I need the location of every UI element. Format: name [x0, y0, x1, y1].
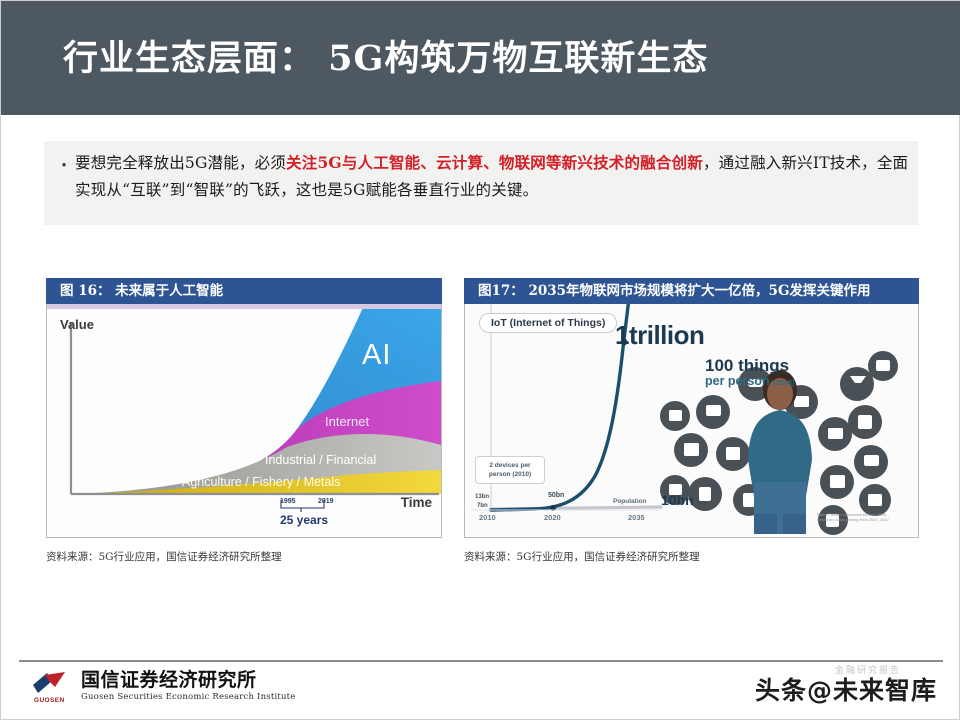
point-label-10bn: 10bn	[661, 492, 694, 508]
note-2-devices-per-person: 2 devices per person (2010)	[475, 456, 545, 484]
figure-17-caption: 图17： 2035年物联网市场规模将扩大一亿倍，5G发挥关键作用	[464, 278, 919, 304]
annotation-25-years: 25 years	[280, 513, 328, 527]
x-tick-2020: 2020	[544, 513, 561, 522]
bullet-text-part1: 要想完全释放出5G潜能，必须	[75, 154, 286, 172]
point-label-50bn: 50bn	[548, 492, 564, 499]
guosen-logo-mark: GUOSEN	[31, 669, 77, 703]
figure-16-source: 资料来源：5G行业应用，国信证券经济研究所整理	[46, 549, 442, 564]
value-time-area-chart: Value Time AI Internet Industrial / Fina…	[47, 309, 441, 537]
series-label-ai: AI	[362, 339, 391, 372]
watermark: 头条@未来智库	[755, 671, 937, 707]
figure-16-caption: 图 16： 未来属于人工智能	[46, 278, 442, 304]
bullet-marker: •	[53, 149, 75, 204]
figure-17-source: 资料来源：5G行业应用，国信证券经济研究所整理	[464, 549, 919, 564]
iot-badge: IoT (Internet of Things)	[479, 313, 617, 333]
figure-17: 图17： 2035年物联网市场规模将扩大一亿倍，5G发挥关键作用	[464, 278, 919, 564]
company-name-en: Guosen Securities Economic Research Inst…	[81, 691, 296, 703]
page-title: 行业生态层面： 5G构筑万物互联新生态	[63, 37, 708, 81]
slide: 行业生态层面： 5G构筑万物互联新生态 • 要想完全释放出5G潜能，必须关注5G…	[0, 0, 960, 720]
series-label-industrial-financial: Industrial / Financial	[265, 453, 376, 467]
guosen-wordmark: GUOSEN	[34, 697, 65, 704]
callout-100-things: 100 things	[705, 356, 789, 376]
point-label-13bn: 13bn	[475, 494, 489, 500]
iot-growth-chart: IoT (Internet of Things) 1trillion 100 t…	[465, 304, 918, 536]
point-label-7bn: 7bn	[477, 503, 488, 509]
company-name-block: 国信证券经济研究所 Guosen Securities Economic Res…	[81, 669, 296, 703]
annotation-year-1995: 1995	[280, 498, 296, 505]
bullet-text: 要想完全释放出5G潜能，必须关注5G与人工智能、云计算、物联网等新兴技术的融合创…	[75, 149, 913, 204]
bullet-item: • 要想完全释放出5G潜能，必须关注5G与人工智能、云计算、物联网等新兴技术的融…	[53, 149, 913, 204]
footer-divider	[19, 660, 943, 662]
figure-16-frame: Value Time AI Internet Industrial / Fina…	[46, 304, 442, 538]
y-axis-label: Value	[60, 317, 94, 332]
company-name-cn: 国信证券经济研究所	[81, 669, 296, 691]
x-tick-2035: 2035	[628, 513, 645, 522]
bullet-text-highlight: 关注5G与人工智能、云计算、物联网等新兴技术的融合创新	[286, 153, 703, 172]
figure-17-frame: IoT (Internet of Things) 1trillion 100 t…	[464, 304, 919, 538]
callout-per-person-year: (2035)	[773, 378, 795, 387]
summary-textbox: • 要想完全释放出5G潜能，必须关注5G与人工智能、云计算、物联网等新兴技术的融…	[44, 141, 918, 225]
guosen-chevron-icon	[31, 669, 77, 697]
callout-one-trillion: 1trillion	[615, 320, 704, 351]
slide-header: 行业生态层面： 5G构筑万物互联新生态	[1, 1, 960, 115]
person-photo	[737, 364, 823, 534]
person-silhouette	[737, 364, 823, 534]
annotation-year-2019: 2019	[318, 498, 334, 505]
callout-per-person-text: per person	[705, 374, 770, 388]
company-logo: GUOSEN 国信证券经济研究所 Guosen Securities Econo…	[31, 669, 296, 703]
chart-credit-note: Note: 1 trillion connected devices 2035;…	[817, 512, 897, 522]
callout-per-person: per person (2035)	[705, 374, 795, 388]
series-label-agriculture: Agriculture / Fishery / Metals	[182, 475, 340, 489]
series-label-internet: Internet	[325, 414, 369, 429]
point-label-population: Population	[613, 498, 647, 505]
x-tick-2010: 2010	[479, 513, 496, 522]
x-axis-label: Time	[401, 495, 432, 510]
figure-16: 图 16： 未来属于人工智能	[46, 278, 442, 564]
